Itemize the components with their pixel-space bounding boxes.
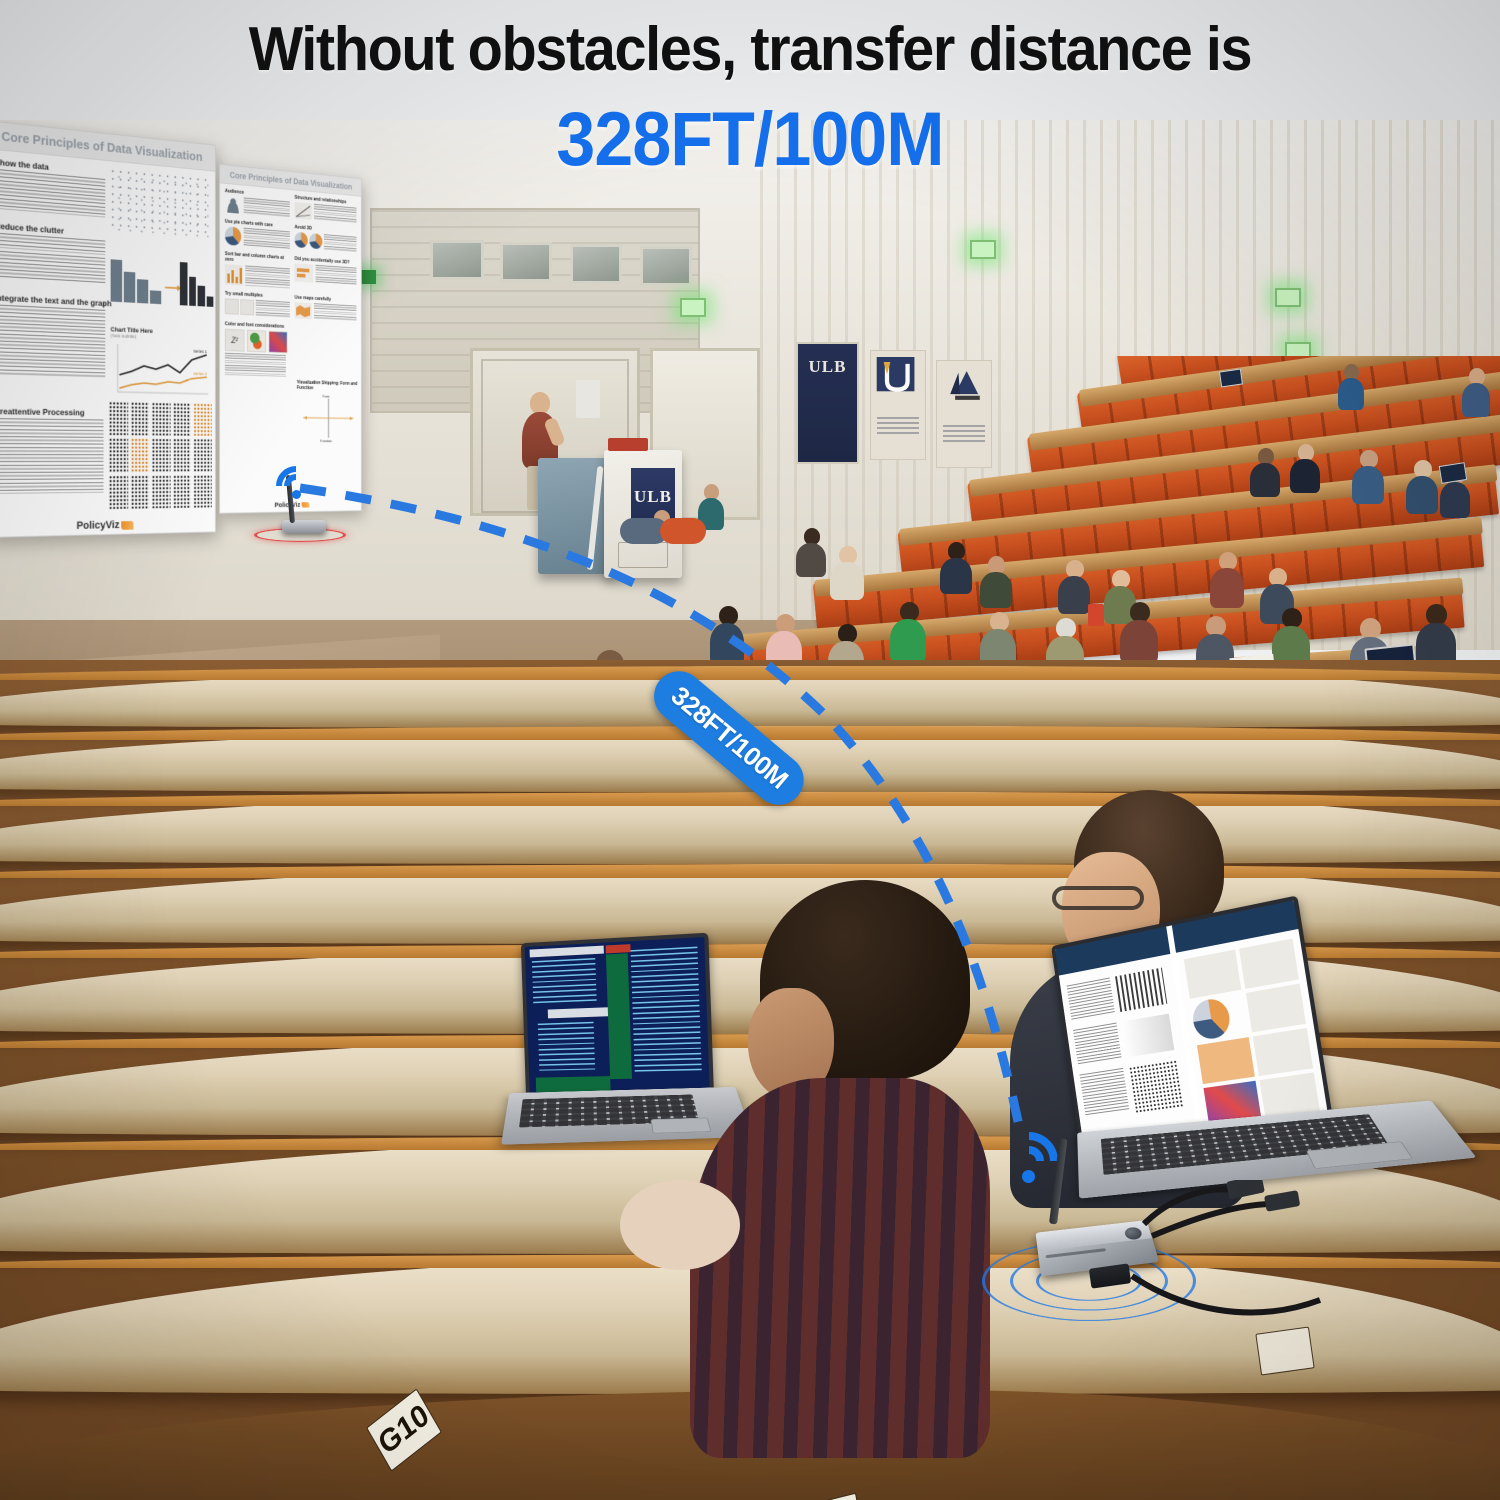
audience-member [830, 546, 864, 598]
wifi-signal-icon [1000, 1132, 1062, 1184]
audience-member [710, 606, 744, 662]
map-icon [295, 302, 312, 319]
presenter-head [530, 392, 550, 414]
preattentive-grid [109, 401, 212, 509]
wall-window [500, 242, 552, 282]
person-shirt [690, 1078, 990, 1458]
scatter-plot-thumb [109, 167, 209, 238]
person-hand [620, 1180, 740, 1270]
svg-text:Series 1: Series 1 [193, 349, 207, 354]
wall-window [640, 246, 692, 286]
screen-side-receiver [282, 520, 326, 533]
policyviz-swoosh-icon [121, 521, 133, 530]
paragraph-lines [0, 233, 105, 285]
audience-member [1120, 602, 1158, 662]
line-chart-thumb: Series 1 Series 2 [111, 342, 210, 400]
quadrant-chart-icon: Form Function [297, 392, 360, 443]
bar-chart-icon [225, 264, 243, 285]
wifi-signal-icon [272, 466, 320, 506]
audience-member [940, 542, 972, 592]
policyviz-brand-label: PolicyViz [76, 519, 119, 532]
exit-sign-icon [1275, 288, 1301, 307]
audience-member [796, 528, 826, 576]
audience-member [980, 556, 1012, 606]
audience-member [1058, 560, 1090, 612]
eyeglasses-icon [1052, 886, 1144, 910]
arrow-right-icon: ⟶ [165, 280, 181, 296]
bar-chart-before [111, 254, 162, 305]
slide-right-body: Audience Structure and relationships [220, 183, 361, 385]
audience-member [1352, 450, 1384, 502]
device-cables [1020, 1180, 1420, 1400]
audience-tablet [1219, 369, 1243, 388]
slide-left-footer: PolicyViz [0, 517, 215, 534]
svg-text:Series 2: Series 2 [193, 371, 207, 376]
drink-cup [1088, 604, 1104, 626]
audience-member [1406, 460, 1438, 512]
waste-bin [576, 380, 600, 418]
exit-sign-icon [680, 298, 706, 317]
line-chart-icon [295, 202, 312, 220]
slide-section-heading: Visualization Shipping: Form and Functio… [297, 380, 360, 392]
projected-slide-right: Core Principles of Data Visualization Au… [219, 164, 362, 514]
svg-text:Form: Form [322, 394, 330, 399]
paragraph-lines [0, 169, 105, 218]
audience-member [890, 602, 926, 660]
projected-slide-left: Core Principles of Data Visualization Sh… [0, 120, 216, 538]
wall-window [570, 244, 622, 284]
slide-left-body: Show the data Reduce the clutter ⟶ Integ… [0, 149, 215, 501]
paragraph-lines [0, 418, 104, 494]
foreground-person-left [690, 880, 990, 1440]
paragraph-lines [0, 304, 105, 379]
audience-member [1462, 368, 1490, 414]
svg-text:Function: Function [320, 438, 332, 443]
lecture-hall-scene: ULB [0, 120, 1500, 1500]
audience-member [660, 514, 708, 548]
headline-primary: Without obstacles, transfer distance is [53, 14, 1448, 85]
audience-member [1290, 444, 1320, 490]
bar-chart-after [180, 258, 213, 307]
audience-member [1338, 364, 1364, 408]
wall-window [430, 240, 484, 280]
audience-member [1272, 608, 1310, 668]
3d-bar-icon [295, 263, 314, 282]
terminal-laptop-screen [525, 937, 710, 1095]
exit-sign-icon [970, 240, 996, 259]
audience-member [1416, 604, 1456, 666]
audience-member [1210, 552, 1244, 606]
audience-member [1250, 448, 1280, 494]
product-marketing-image: ULB [0, 0, 1500, 1500]
